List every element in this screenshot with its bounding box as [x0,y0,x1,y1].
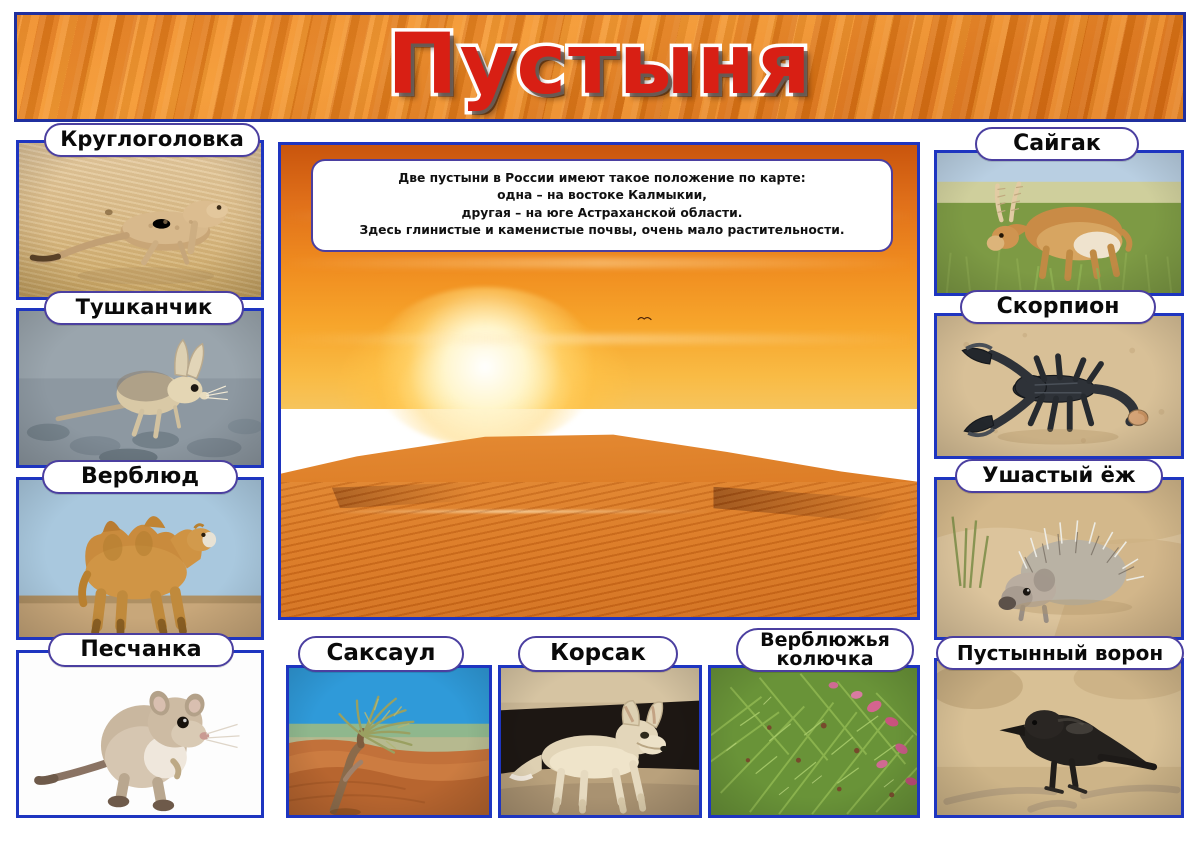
label-verblyuzhya-kolyuchka: Верблюжья колючка [736,628,914,672]
center-desert-photo: Две пустыни в России имеют такое положен… [278,142,920,620]
card-photo-saksaul [286,665,492,818]
photo-saxaul-shrub [289,668,489,815]
page-title: Пустыня [387,22,812,112]
label-saksaul: Саксаул [298,636,464,672]
label-pustynnyy-voron: Пустынный ворон [936,636,1184,670]
poster-header-banner: Пустыня [14,12,1186,122]
photo-camel-thorn-plant [711,668,917,815]
photo-long-eared-hedgehog [937,480,1181,637]
photo-corsac-fox [501,668,699,815]
photo-toad-headed-agama [19,143,261,297]
photo-desert-raven [937,661,1181,815]
photo-saiga-antelope [937,153,1181,293]
label-korsak: Корсак [518,636,678,672]
card-photo-krugologolovka [16,140,264,300]
poster: Пустыня Две пустыни в России имеют такое… [0,0,1200,849]
sand-dunes [281,400,917,617]
label-verblyud: Верблюд [42,460,238,494]
label-peschanka: Песчанка [48,633,234,667]
cloud-band [281,334,917,344]
card-photo-peschanka [16,650,264,818]
card-photo-verblyuzhya-kolyuchka [708,665,920,818]
card-photo-korsak [498,665,702,818]
info-text-box: Две пустыни в России имеют такое положен… [311,159,893,252]
label-saigak: Сайгак [975,127,1139,161]
cloud-band [281,258,917,268]
label-skorpion: Скорпион [960,290,1156,324]
bird-silhouette [637,315,653,323]
photo-black-scorpion [937,316,1181,456]
label-ushastyy-yozh: Ушастый ёж [955,459,1163,493]
label-krugologolovka: Круглоголовка [44,123,260,157]
label-tushkanchik: Тушканчик [44,291,244,325]
photo-bactrian-camel [19,480,261,637]
card-photo-pustynnyy-voron [934,658,1184,818]
photo-gerbil [19,653,261,815]
card-photo-skorpion [934,313,1184,459]
card-photo-tushkanchik [16,308,264,468]
card-photo-ushastyy-yozh [934,477,1184,640]
card-photo-saigak [934,150,1184,296]
card-photo-verblyud [16,477,264,640]
photo-jerboa [19,311,261,465]
